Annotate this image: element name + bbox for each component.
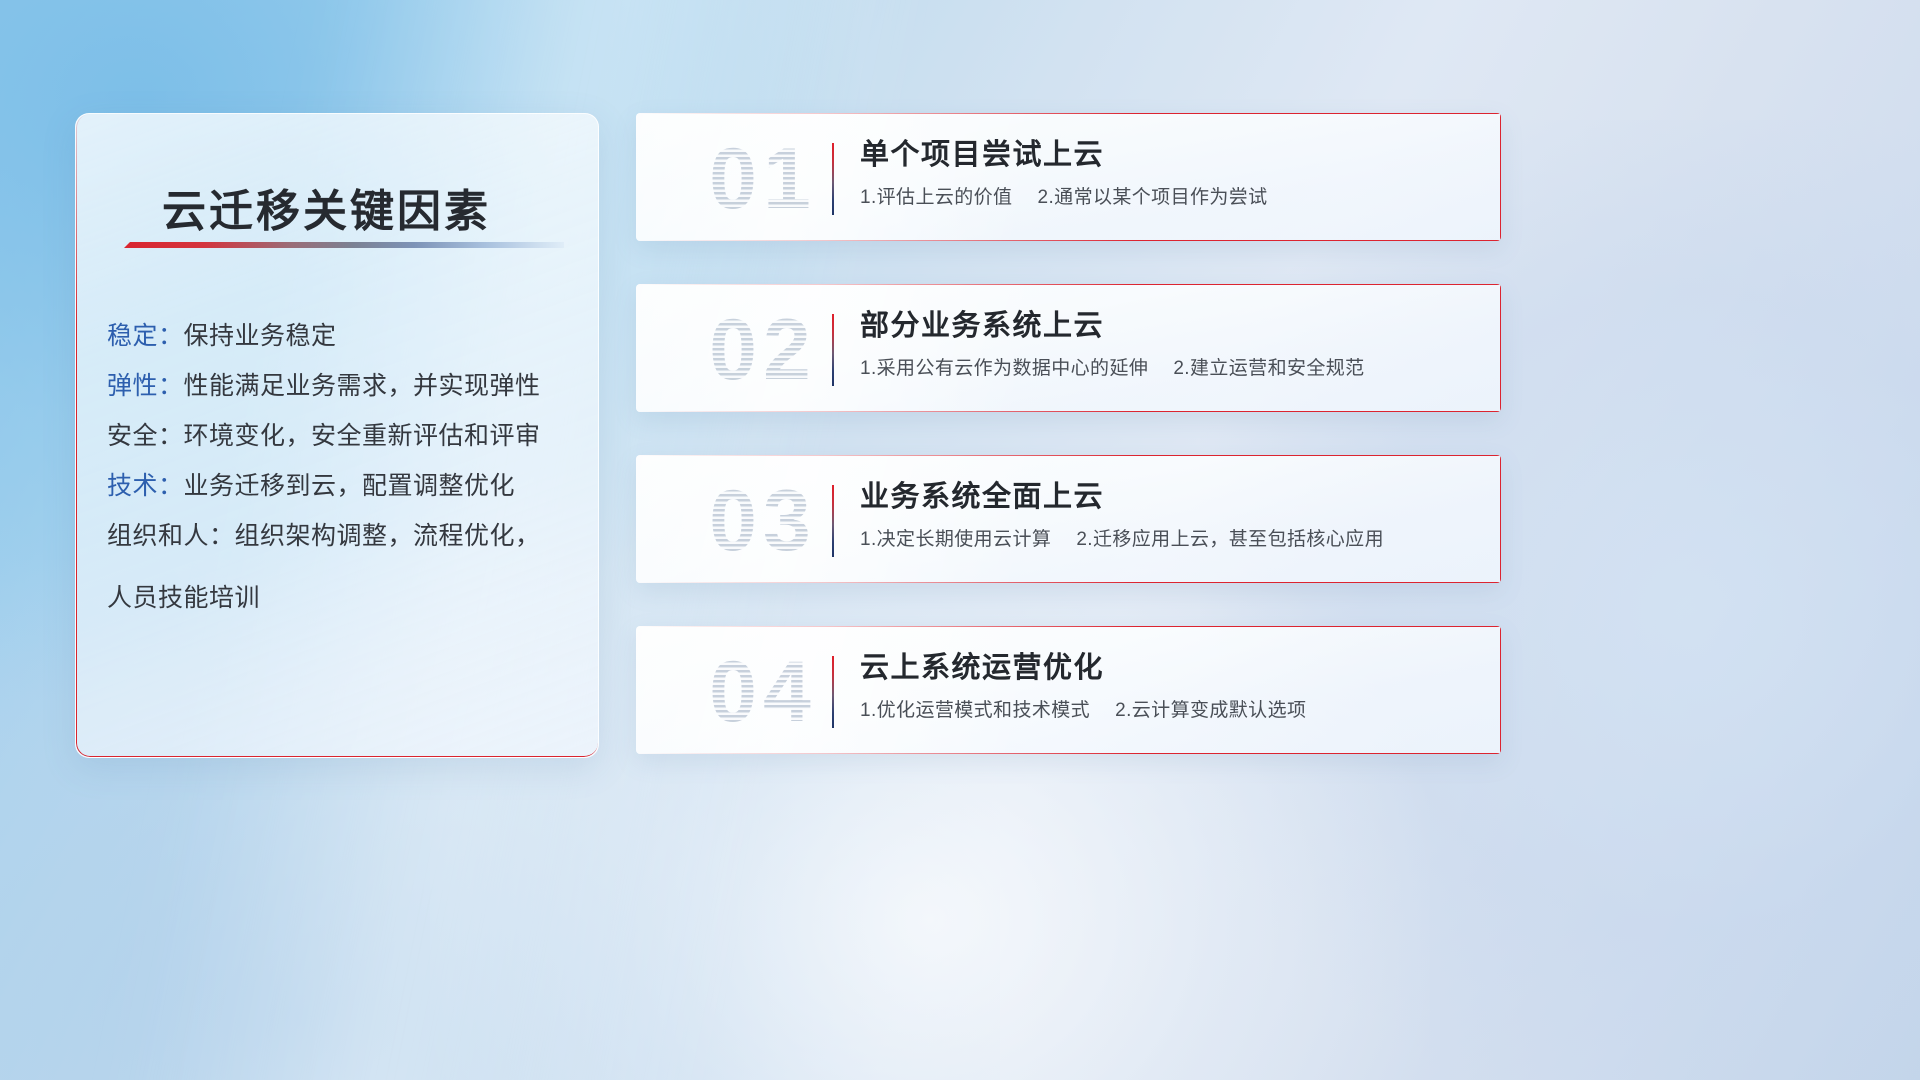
fact-item-technology: 技术：业务迁移到云，配置调整优化	[107, 461, 580, 511]
fact-value: 性能满足业务需求，并实现弹性	[184, 372, 541, 400]
fact-item-organization: 组织和人：组织架构调整，流程优化，	[107, 511, 580, 561]
stage-card-01[interactable]: 01 单个项目尝试上云 1.评估上云的价值 2.通常以某个项目作为尝试	[636, 113, 1501, 241]
card-body: 业务系统全面上云 1.决定长期使用云计算 2.迁移应用上云，甚至包括核心应用	[860, 476, 1487, 554]
card-description: 1.决定长期使用云计算 2.迁移应用上云，甚至包括核心应用	[860, 526, 1487, 554]
fact-item-elasticity: 弹性：性能满足业务需求，并实现弹性	[107, 361, 580, 411]
stage-card-04[interactable]: 04 云上系统运营优化 1.优化运营模式和技术模式 2.云计算变成默认选项	[636, 626, 1501, 754]
card-body: 单个项目尝试上云 1.评估上云的价值 2.通常以某个项目作为尝试	[860, 134, 1487, 212]
card-title: 部分业务系统上云	[860, 305, 1487, 347]
stage-card-02[interactable]: 02 部分业务系统上云 1.采用公有云作为数据中心的延伸 2.建立运营和安全规范	[636, 284, 1501, 412]
step-number-02: 02	[658, 298, 868, 402]
card-body: 云上系统运营优化 1.优化运营模式和技术模式 2.云计算变成默认选项	[860, 647, 1487, 725]
key-factors-panel: 云迁移关键因素 稳定：保持业务稳定 弹性：性能满足业务需求，并实现弹性 安全：环…	[75, 113, 599, 758]
fact-item-security: 安全：环境变化，安全重新评估和评审	[107, 411, 580, 461]
card-description: 1.评估上云的价值 2.通常以某个项目作为尝试	[860, 184, 1487, 212]
card-divider-line	[832, 143, 834, 215]
card-description: 1.采用公有云作为数据中心的延伸 2.建立运营和安全规范	[860, 355, 1487, 383]
card-description: 1.优化运营模式和技术模式 2.云计算变成默认选项	[860, 697, 1487, 725]
stage-card-03[interactable]: 03 业务系统全面上云 1.决定长期使用云计算 2.迁移应用上云，甚至包括核心应…	[636, 455, 1501, 583]
slide-canvas: 云迁移关键因素 稳定：保持业务稳定 弹性：性能满足业务需求，并实现弹性 安全：环…	[0, 0, 1920, 1080]
card-divider-line	[832, 656, 834, 728]
card-divider-line	[832, 314, 834, 386]
fact-label: 组织和人：	[107, 522, 235, 550]
step-number-04: 04	[658, 640, 868, 744]
fact-value: 组织架构调整，流程优化，	[235, 522, 541, 550]
fact-item-stability: 稳定：保持业务稳定	[107, 311, 580, 361]
fact-label: 稳定：	[107, 322, 184, 350]
fact-label: 安全：	[107, 422, 184, 450]
card-title: 业务系统全面上云	[860, 476, 1487, 518]
fact-value: 保持业务稳定	[184, 322, 337, 350]
fact-label: 弹性：	[107, 372, 184, 400]
card-divider-line	[832, 485, 834, 557]
fact-value: 环境变化，安全重新评估和评审	[184, 422, 541, 450]
fact-label: 技术：	[107, 472, 184, 500]
card-title: 单个项目尝试上云	[860, 134, 1487, 176]
step-number-01: 01	[658, 127, 868, 231]
key-factors-list: 稳定：保持业务稳定 弹性：性能满足业务需求，并实现弹性 安全：环境变化，安全重新…	[107, 311, 580, 623]
card-title: 云上系统运营优化	[860, 647, 1487, 689]
card-body: 部分业务系统上云 1.采用公有云作为数据中心的延伸 2.建立运营和安全规范	[860, 305, 1487, 383]
title-underline-rule	[124, 242, 564, 248]
fact-item-organization-continued: 人员技能培训	[107, 573, 580, 623]
fact-value: 业务迁移到云，配置调整优化	[184, 472, 516, 500]
page-title: 云迁移关键因素	[162, 175, 491, 239]
step-number-03: 03	[658, 469, 868, 573]
